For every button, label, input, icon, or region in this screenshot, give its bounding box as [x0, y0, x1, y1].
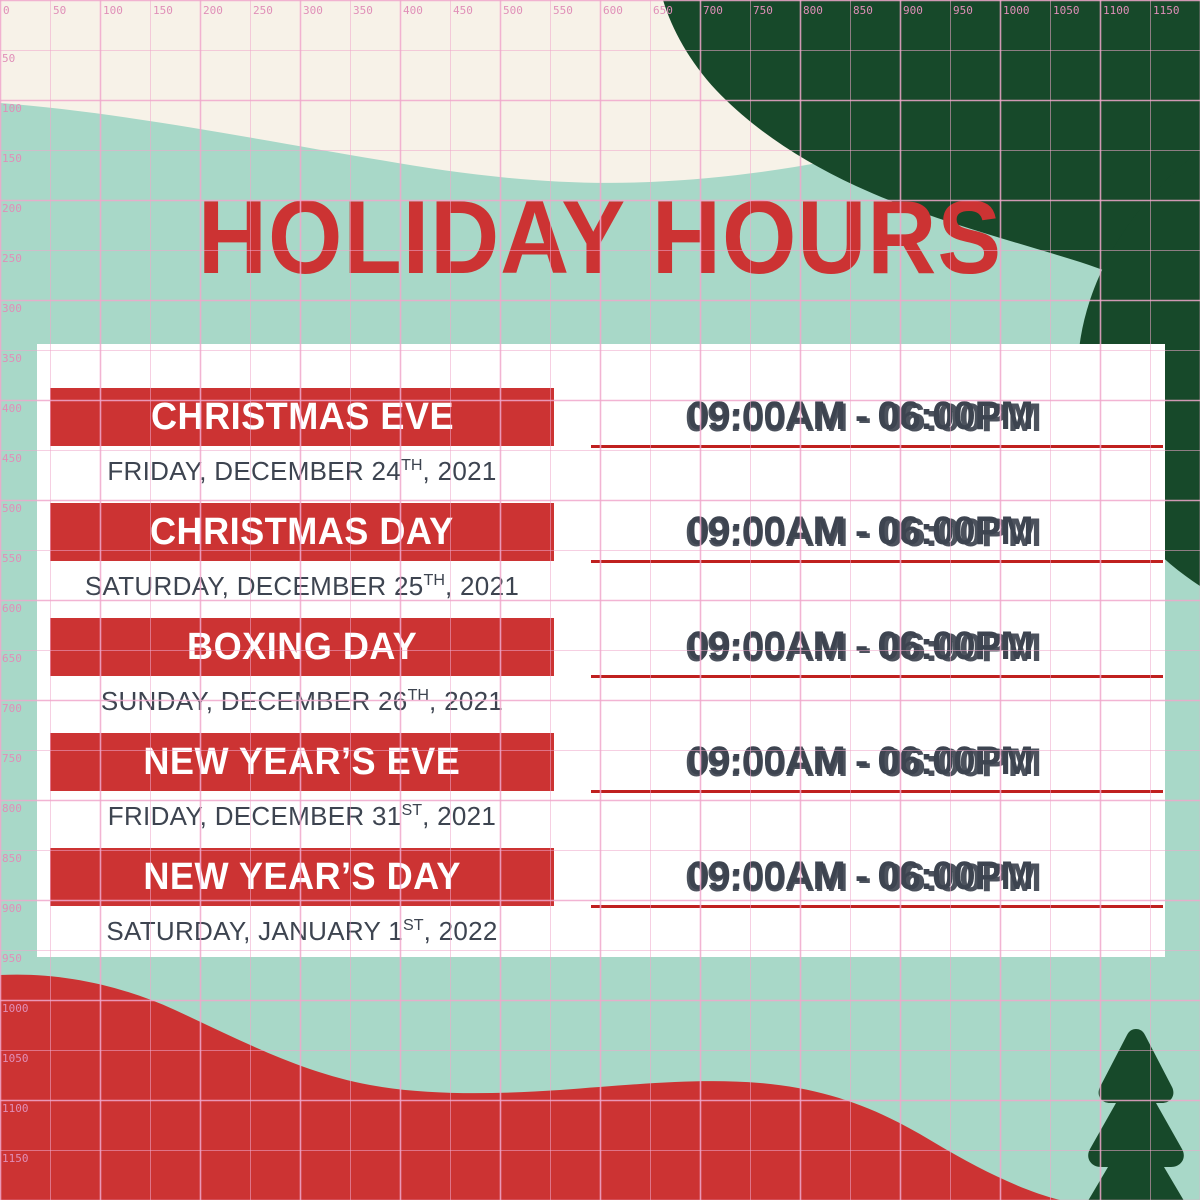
holiday-name-bar: BOXING DAY	[50, 618, 554, 676]
holiday-time-block: 09:00AM - 06:00PM 09:00AM - 06:00PM	[560, 848, 1160, 912]
holiday-date-main: FRIDAY, DECEMBER 24	[107, 456, 401, 486]
schedule-row: BOXING DAY SUNDAY, DECEMBER 26TH, 2021 0…	[37, 618, 1165, 733]
holiday-time: 09:00AM - 06:00PM	[560, 503, 1160, 559]
time-underline	[591, 675, 1163, 678]
holiday-date: FRIDAY, DECEMBER 31ST, 2021	[50, 793, 554, 833]
schedule-row: NEW YEAR’S EVE FRIDAY, DECEMBER 31ST, 20…	[37, 733, 1165, 848]
holiday-name: CHRISTMAS EVE	[150, 398, 453, 436]
holiday-time-block: 09:00AM - 06:00PM 09:00AM - 06:00PM	[560, 733, 1160, 797]
holiday-name: NEW YEAR’S EVE	[144, 743, 461, 781]
holiday-date-year: , 2021	[445, 571, 519, 601]
holiday-date-main: SATURDAY, JANUARY 1	[106, 916, 403, 946]
schedule-card: CHRISTMAS EVE FRIDAY, DECEMBER 24TH, 202…	[37, 344, 1165, 957]
holiday-date-ordinal: ST	[403, 916, 424, 934]
time-underline	[591, 445, 1163, 448]
holiday-name-bar: NEW YEAR’S EVE	[50, 733, 554, 791]
holiday-name-bar: CHRISTMAS DAY	[50, 503, 554, 561]
time-underline	[591, 790, 1163, 793]
holiday-time-block: 09:00AM - 06:00PM 09:00AM - 06:00PM	[560, 618, 1160, 682]
schedule-row: CHRISTMAS DAY SATURDAY, DECEMBER 25TH, 2…	[37, 503, 1165, 618]
time-underline	[591, 905, 1163, 908]
holiday-date-year: , 2022	[424, 916, 498, 946]
holiday-time-block: 09:00AM - 06:00PM 09:00AM - 06:00PM	[560, 388, 1160, 452]
holiday-name-bar: CHRISTMAS EVE	[50, 388, 554, 446]
holiday-name: BOXING DAY	[187, 628, 417, 666]
holiday-time-block: 09:00AM - 06:00PM 09:00AM - 06:00PM	[560, 503, 1160, 567]
holiday-time: 09:00AM - 06:00PM	[560, 848, 1160, 904]
holiday-name: CHRISTMAS DAY	[150, 513, 454, 551]
schedule-row: CHRISTMAS EVE FRIDAY, DECEMBER 24TH, 202…	[37, 388, 1165, 503]
holiday-time: 09:00AM - 06:00PM	[560, 618, 1160, 674]
holiday-date-ordinal: TH	[408, 686, 429, 704]
holiday-date-main: SUNDAY, DECEMBER 26	[101, 686, 408, 716]
holiday-date: SUNDAY, DECEMBER 26TH, 2021	[50, 678, 554, 718]
holiday-date-ordinal: TH	[424, 571, 445, 589]
holiday-date-ordinal: ST	[402, 801, 423, 819]
holiday-date: SATURDAY, DECEMBER 25TH, 2021	[50, 563, 554, 603]
holiday-date-year: , 2021	[422, 801, 496, 831]
time-underline	[591, 560, 1163, 563]
holiday-date-year: , 2021	[429, 686, 503, 716]
page-title: HOLIDAY HOURS	[48, 186, 1152, 290]
holiday-name: NEW YEAR’S DAY	[143, 858, 461, 896]
holiday-date: FRIDAY, DECEMBER 24TH, 2021	[50, 448, 554, 488]
holiday-date-main: SATURDAY, DECEMBER 25	[85, 571, 424, 601]
holiday-time: 09:00AM - 06:00PM	[560, 733, 1160, 789]
holiday-date-ordinal: TH	[401, 456, 422, 474]
holiday-date-main: FRIDAY, DECEMBER 31	[108, 801, 402, 831]
holiday-time: 09:00AM - 06:00PM	[560, 388, 1160, 444]
holiday-date: SATURDAY, JANUARY 1ST, 2022	[50, 908, 554, 948]
holiday-name-bar: NEW YEAR’S DAY	[50, 848, 554, 906]
schedule-row: NEW YEAR’S DAY SATURDAY, JANUARY 1ST, 20…	[37, 848, 1165, 963]
holiday-hours-poster: HOLIDAY HOURS CHRISTMAS EVE FRIDAY, DECE…	[0, 0, 1200, 1200]
holiday-date-year: , 2021	[423, 456, 497, 486]
